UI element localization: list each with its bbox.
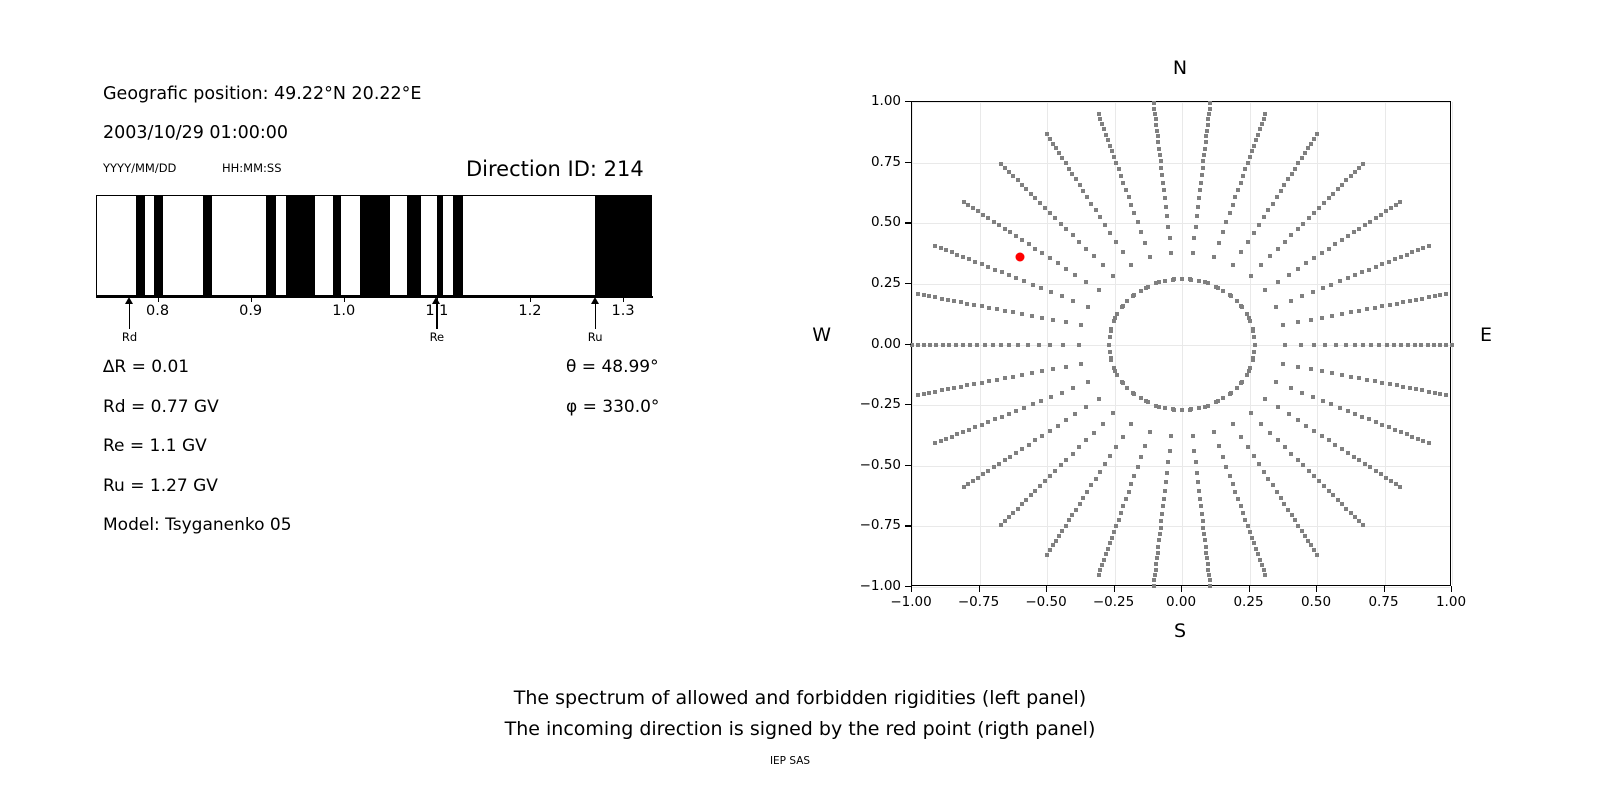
direction-sample-point — [1146, 400, 1150, 404]
direction-sample-point — [1357, 376, 1361, 380]
direction-sample-point — [1194, 460, 1198, 464]
direction-sample-point — [1296, 524, 1300, 528]
rigidity-axis-tick-label: 0.9 — [239, 303, 262, 319]
direction-sample-point — [1299, 343, 1303, 347]
direction-sample-point — [1125, 386, 1129, 390]
direction-sample-point — [1289, 452, 1293, 456]
x-axis-tick-label: −0.50 — [1025, 594, 1066, 610]
direction-sample-point — [1094, 477, 1098, 481]
cutoff-arrow-label-re: Re — [430, 330, 445, 344]
direction-sample-point — [1236, 497, 1240, 501]
direction-sample-point — [1165, 471, 1169, 475]
direction-sample-point — [1110, 149, 1114, 153]
direction-sample-point — [1398, 200, 1402, 204]
y-axis-tick — [905, 404, 911, 405]
direction-sample-point — [1212, 430, 1216, 434]
direction-sample-point — [1003, 519, 1007, 523]
direction-sample-point — [1438, 392, 1442, 396]
direction-sample-point — [1346, 451, 1350, 455]
x-axis-tick-label: −1.00 — [890, 594, 931, 610]
direction-sample-point — [1148, 430, 1152, 434]
direction-sample-point — [1241, 511, 1245, 515]
direction-sample-point — [1048, 137, 1052, 141]
grid-line-horizontal — [912, 405, 1450, 406]
direction-sample-point — [1078, 502, 1082, 506]
direction-sample-point — [940, 297, 944, 301]
forbidden-band — [154, 196, 163, 295]
direction-sample-point — [1361, 162, 1365, 166]
direction-sample-point — [1300, 294, 1304, 298]
cutoff-arrow-label-ru: Ru — [588, 330, 603, 344]
direction-sample-point — [1344, 178, 1348, 182]
direction-sample-point — [1204, 140, 1208, 144]
direction-sample-point — [1262, 215, 1266, 219]
direction-sample-point — [1250, 149, 1254, 153]
caption-line-2: The incoming direction is signed by the … — [505, 718, 1096, 740]
direction-sample-point — [1129, 263, 1133, 267]
direction-sample-point — [1317, 206, 1321, 210]
direction-sample-point — [1360, 270, 1364, 274]
y-axis-tick-label: 1.00 — [853, 93, 901, 109]
direction-sample-point — [1444, 292, 1448, 296]
compass-north-label: N — [1173, 57, 1187, 79]
direction-sample-point — [1071, 299, 1075, 303]
y-axis-tick — [905, 525, 911, 526]
y-axis-tick-label: 0.75 — [853, 154, 901, 170]
direction-sample-point — [1204, 545, 1208, 549]
direction-sample-point — [1139, 289, 1143, 293]
direction-sample-point — [968, 343, 972, 347]
direction-sample-point — [1353, 170, 1357, 174]
direction-sample-point — [922, 392, 926, 396]
direction-sample-point — [1168, 449, 1172, 453]
direction-sample-point — [1433, 391, 1437, 395]
direction-sample-point — [1084, 280, 1088, 284]
direction-sample-point — [1374, 265, 1378, 269]
direction-sample-point — [1049, 395, 1053, 399]
direction-sample-point — [1389, 206, 1393, 210]
direction-sample-point — [1192, 449, 1196, 453]
direction-sample-point — [1373, 379, 1377, 383]
direction-sample-point — [1115, 373, 1119, 377]
direction-sample-point — [1189, 278, 1193, 282]
direction-sample-point — [1380, 423, 1384, 427]
direction-sample-point — [1162, 188, 1166, 192]
cutoff-arrow-rd — [124, 297, 135, 329]
direction-sample-point — [1421, 246, 1425, 250]
direction-sample-point — [927, 294, 931, 298]
direction-sample-point — [1202, 153, 1206, 157]
direction-sample-point — [1340, 183, 1344, 187]
direction-sample-point — [1195, 471, 1199, 475]
direction-sample-point — [1380, 262, 1384, 266]
direction-sample-point — [1221, 455, 1225, 459]
direction-sample-point — [1143, 444, 1147, 448]
direction-sample-point — [1108, 350, 1112, 354]
direction-sample-point — [1257, 223, 1261, 227]
direction-sample-point — [1112, 366, 1116, 370]
direction-sample-point — [1038, 484, 1042, 488]
direction-sample-point — [1374, 420, 1378, 424]
direction-sample-point — [1336, 187, 1340, 191]
y-axis-tick-label: 0.50 — [853, 214, 901, 230]
direction-sample-point — [1059, 222, 1063, 226]
direction-sample-point — [1327, 489, 1331, 493]
direction-sample-point — [1155, 129, 1159, 133]
direction-sample-point — [1081, 496, 1085, 500]
direction-sample-point — [1114, 445, 1118, 449]
direction-sample-point — [1022, 279, 1026, 283]
direction-sample-point — [1102, 558, 1106, 562]
direction-sample-point — [1007, 343, 1011, 347]
x-axis-tick — [1181, 586, 1182, 592]
direction-sample-point — [993, 417, 997, 421]
direction-sample-point — [1152, 101, 1156, 105]
direction-sample-point — [1027, 443, 1031, 447]
rigidity-axis-tick-label: 1.3 — [612, 303, 635, 319]
direction-sample-point — [983, 343, 987, 347]
direction-sample-point — [1085, 195, 1089, 199]
direction-sample-point — [1256, 133, 1260, 137]
direction-sample-point — [1282, 183, 1286, 187]
direction-sample-point — [961, 430, 965, 434]
direction-sample-point — [1289, 299, 1293, 303]
direction-sample-point — [1040, 434, 1044, 438]
direction-sample-point — [1097, 288, 1101, 292]
direction-sample-point — [1064, 458, 1068, 462]
grid-line-vertical — [1115, 102, 1116, 585]
direction-sample-point — [1281, 323, 1285, 327]
direction-sample-point — [1166, 225, 1170, 229]
direction-sample-point — [1048, 429, 1052, 433]
direction-sample-point — [1092, 431, 1096, 435]
direction-sample-point — [1398, 485, 1402, 489]
direction-sample-point — [1043, 479, 1047, 483]
direction-sample-point — [1311, 290, 1315, 294]
direction-sample-point — [1287, 273, 1291, 277]
direction-sample-point — [1127, 195, 1131, 199]
direction-sample-point — [1333, 242, 1337, 246]
direction-sample-point — [1007, 170, 1011, 174]
y-axis-tick-label: −0.50 — [853, 457, 901, 473]
direction-sample-point — [1208, 101, 1212, 105]
direction-sample-point — [1245, 312, 1249, 316]
x-axis-tick — [1384, 586, 1385, 592]
direction-sample-point — [1051, 367, 1055, 371]
direction-sample-point — [1106, 138, 1110, 142]
incoming-direction-point — [1016, 253, 1025, 262]
direction-sample-point — [1201, 159, 1205, 163]
date-format-hint: YYYY/MM/DD — [103, 161, 176, 175]
direction-sample-point — [1112, 530, 1116, 534]
direction-sample-point — [1007, 515, 1011, 519]
forbidden-band — [595, 196, 651, 295]
direction-sample-point — [1160, 173, 1164, 177]
direction-sample-point — [1139, 396, 1143, 400]
direction-sample-point — [1363, 223, 1367, 227]
direction-sample-point — [1121, 504, 1125, 508]
direction-sample-point — [1168, 236, 1172, 240]
direction-sample-point — [987, 379, 991, 383]
direction-sample-point — [1231, 422, 1235, 426]
direction-sample-point — [1252, 541, 1256, 545]
direction-sample-point — [1003, 309, 1007, 313]
direction-sample-point — [1290, 172, 1294, 176]
direction-sample-point — [1067, 518, 1071, 522]
direction-sample-point — [1136, 220, 1140, 224]
direction-sample-point — [1340, 447, 1344, 451]
direction-sample-point — [1320, 434, 1324, 438]
direction-sample-point — [1048, 548, 1052, 552]
direction-sample-point — [1070, 172, 1074, 176]
direction-sample-point — [1231, 263, 1235, 267]
direction-sample-point — [1224, 465, 1228, 469]
direction-sample-point — [1048, 474, 1052, 478]
time-format-hint: HH:MM:SS — [222, 161, 282, 175]
direction-sample-point — [1296, 227, 1300, 231]
direction-sample-point — [1258, 558, 1262, 562]
direction-sample-point — [1369, 343, 1373, 347]
direction-sample-point — [1163, 279, 1167, 283]
direction-sample-point — [1064, 418, 1068, 422]
direction-sample-point — [1121, 181, 1125, 185]
direction-sample-point — [1438, 293, 1442, 297]
direction-sample-point — [1111, 411, 1115, 415]
y-axis-tick — [905, 344, 911, 345]
direction-sample-point — [922, 293, 926, 297]
direction-sample-point — [1196, 480, 1200, 484]
direction-sample-point — [1089, 202, 1093, 206]
direction-sample-point — [1368, 220, 1372, 224]
direction-sample-point — [1079, 362, 1083, 366]
direction-sample-point — [1300, 156, 1304, 160]
direction-sample-point — [1286, 177, 1290, 181]
direction-sample-point — [1309, 543, 1313, 547]
direction-sample-point — [1192, 236, 1196, 240]
direction-sample-point — [1251, 358, 1255, 362]
direction-sample-point — [1353, 412, 1357, 416]
direction-sample-point — [1338, 406, 1342, 410]
direction-sample-point — [1327, 247, 1331, 251]
direction-sample-point — [1304, 261, 1308, 265]
direction-sample-point — [1399, 343, 1403, 347]
direction-sample-point — [1253, 343, 1257, 347]
y-axis-tick — [905, 222, 911, 223]
direction-sample-point — [992, 220, 996, 224]
direction-sample-point — [1333, 443, 1337, 447]
direction-sample-point — [1322, 201, 1326, 205]
direction-sample-point — [1312, 211, 1316, 215]
direction-sample-point — [1374, 469, 1378, 473]
direction-sample-point — [1077, 240, 1081, 244]
direction-sample-point — [1276, 247, 1280, 251]
direction-sample-point — [928, 343, 932, 347]
grid-line-vertical — [1250, 102, 1251, 585]
direction-sample-point — [1101, 422, 1105, 426]
direction-sample-point — [1078, 183, 1082, 187]
direction-sample-point — [1293, 167, 1297, 171]
direction-sample-point — [1274, 380, 1278, 384]
direction-sample-point — [1393, 257, 1397, 261]
direction-sample-point — [1387, 425, 1391, 429]
direction-sample-point — [1296, 267, 1300, 271]
direction-sample-point — [1102, 127, 1106, 131]
direction-sample-point — [1427, 390, 1431, 394]
direction-sample-point — [1064, 227, 1068, 231]
direction-sample-point — [1327, 438, 1331, 442]
x-axis-tick-label: 0.50 — [1301, 594, 1331, 610]
direction-sample-point — [1228, 293, 1232, 297]
direction-sample-point — [1405, 432, 1409, 436]
direction-sample-point — [955, 253, 959, 257]
direction-sample-point — [1201, 166, 1205, 170]
direction-sample-point — [939, 246, 943, 250]
direction-sample-point — [959, 385, 963, 389]
direction-sample-point — [1166, 460, 1170, 464]
direction-sample-point — [1346, 234, 1350, 238]
direction-sample-point — [1268, 254, 1272, 258]
x-axis-tick-label: −0.25 — [1093, 594, 1134, 610]
direction-sample-point — [1206, 568, 1210, 572]
direction-sample-point — [1064, 267, 1068, 271]
direction-sample-point — [973, 260, 977, 264]
rigidity-axis-tick-label: 1.0 — [332, 303, 355, 319]
direction-sample-point — [1132, 293, 1136, 297]
direction-sample-point — [1180, 277, 1184, 281]
direction-sample-point — [1195, 214, 1199, 218]
direction-sample-point — [1380, 381, 1384, 385]
direction-sample-point — [1346, 276, 1350, 280]
direction-sample-point — [1300, 529, 1304, 533]
direction-sample-point — [1117, 518, 1121, 522]
direction-sample-point — [934, 343, 938, 347]
rigidity-axis-tick — [158, 296, 159, 302]
direction-sample-point — [1049, 290, 1053, 294]
direction-sample-point — [1360, 415, 1364, 419]
cutoff-arrow-label-rd: Rd — [122, 330, 137, 344]
direction-sample-point — [993, 268, 997, 272]
direction-sample-point — [1114, 524, 1118, 528]
direction-sample-point — [1208, 578, 1212, 582]
direction-sample-point — [1071, 386, 1075, 390]
direction-sample-point — [1073, 412, 1077, 416]
direction-sample-point — [927, 391, 931, 395]
direction-sample-point — [1352, 455, 1356, 459]
x-axis-tick-label: 1.00 — [1436, 594, 1466, 610]
direction-sample-point — [1353, 273, 1357, 277]
direction-sample-point — [1207, 112, 1211, 116]
direction-sample-point — [1097, 112, 1101, 116]
direction-sample-point — [1007, 412, 1011, 416]
direction-sample-point — [1263, 397, 1267, 401]
direction-sample-point — [1136, 465, 1140, 469]
direction-sample-point — [1197, 489, 1201, 493]
direction-sample-point — [1108, 541, 1112, 545]
direction-sample-point — [1119, 511, 1123, 515]
direction-sample-point — [1206, 123, 1210, 127]
direction-sample-point — [1205, 129, 1209, 133]
figure-canvas: Geografic position: 49.22°N 20.22°E 2003… — [0, 0, 1600, 800]
direction-sample-point — [1399, 430, 1403, 434]
direction-sample-point — [1121, 435, 1125, 439]
direction-sample-point — [1236, 188, 1240, 192]
direction-sample-point — [1208, 107, 1212, 111]
direction-sample-point — [1119, 174, 1123, 178]
direction-sample-point — [1408, 386, 1412, 390]
direction-sample-point — [1414, 298, 1418, 302]
direction-sample-point — [1039, 286, 1043, 290]
direction-sample-point — [991, 343, 995, 347]
direction-sample-point — [1129, 203, 1133, 207]
direction-sample-point — [1432, 343, 1436, 347]
direction-sample-point — [1379, 213, 1383, 217]
direction-sample-point — [1154, 562, 1158, 566]
direction-sample-point — [1104, 133, 1108, 137]
direction-sample-point — [1053, 469, 1057, 473]
direction-sample-point — [986, 216, 990, 220]
direction-sample-point — [950, 435, 954, 439]
direction-sample-point — [1283, 445, 1287, 449]
direction-sample-point — [1060, 294, 1064, 298]
direction-sample-point — [1196, 205, 1200, 209]
direction-sample-point — [1427, 295, 1431, 299]
direction-sample-point — [1202, 532, 1206, 536]
direction-sample-point — [1239, 435, 1243, 439]
direction-sample-point — [1120, 380, 1124, 384]
direction-sample-point — [967, 257, 971, 261]
grid-line-horizontal — [912, 102, 1450, 103]
direction-sample-point — [1416, 248, 1420, 252]
direction-sample-point — [1228, 392, 1232, 396]
param-ru: Ru = 1.27 GV — [103, 476, 218, 496]
direction-sample-point — [1249, 411, 1253, 415]
direction-sample-point — [1282, 502, 1286, 506]
direction-sample-point — [1312, 343, 1316, 347]
direction-sample-point — [1246, 161, 1250, 165]
direction-sample-point — [922, 343, 926, 347]
direction-sample-point — [1240, 305, 1244, 309]
direction-sample-point — [916, 343, 920, 347]
direction-sample-point — [1127, 490, 1131, 494]
direction-sample-point — [1279, 189, 1283, 193]
direction-sample-point — [999, 343, 1003, 347]
direction-sample-point — [1331, 192, 1335, 196]
rigidity-axis-tick — [344, 296, 345, 302]
x-axis-tick — [979, 586, 980, 592]
direction-sample-point — [940, 388, 944, 392]
y-axis-tick-label: −0.75 — [853, 517, 901, 533]
direction-sample-point — [941, 343, 945, 347]
direction-sample-point — [1413, 343, 1417, 347]
direction-sample-point — [1199, 181, 1203, 185]
direction-sample-point — [1033, 438, 1037, 442]
direction-sample-point — [1240, 380, 1244, 384]
direction-sample-point — [1340, 312, 1344, 316]
direction-sample-point — [1260, 563, 1264, 567]
direction-sample-point — [1321, 399, 1325, 403]
direction-sample-point — [1077, 343, 1081, 347]
direction-sample-point — [1007, 273, 1011, 277]
direction-sample-point — [999, 523, 1003, 527]
x-axis-tick — [1316, 586, 1317, 592]
x-axis-tick-label: 0.00 — [1166, 594, 1196, 610]
direction-sample-point — [1444, 393, 1448, 397]
rigidity-axis-line — [96, 296, 653, 298]
direction-sample-point — [1340, 238, 1344, 242]
direction-sample-point — [1349, 310, 1353, 314]
direction-sample-point — [1373, 306, 1377, 310]
direction-sample-point — [986, 469, 990, 473]
